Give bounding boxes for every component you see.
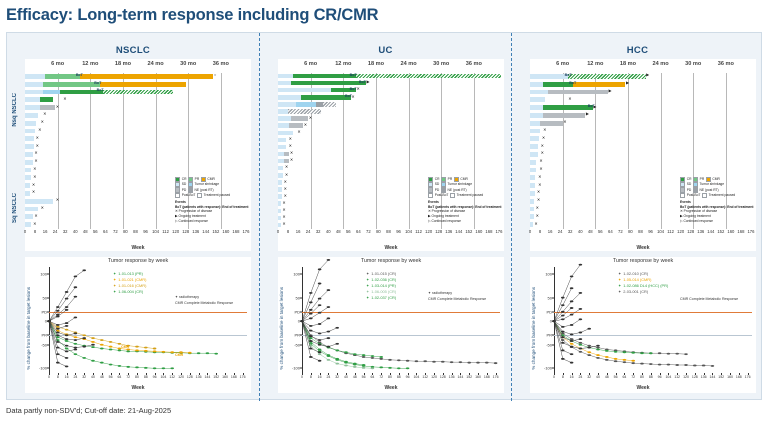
curve-annotation-cmr: CMR	[121, 345, 129, 349]
spider-x-tick-label: 48	[353, 375, 357, 379]
spider-data-point	[561, 297, 565, 299]
spider-x-tick-label: 104	[665, 375, 671, 379]
week-tick-label: 72	[113, 229, 118, 234]
event-marker-x: ✕	[538, 175, 541, 179]
spider-data-point	[318, 353, 322, 355]
spider-x-tick	[425, 373, 426, 375]
spider-x-tick-label: 72	[631, 375, 635, 379]
spider-data-point	[631, 360, 635, 362]
week-tick-label: 128	[182, 229, 189, 234]
spider-data-point	[56, 341, 60, 343]
week-tick-label: 128	[687, 229, 694, 234]
spider-x-tick	[328, 373, 329, 375]
spider-x-tick-label: 120	[683, 375, 689, 379]
spider-data-point	[587, 351, 591, 353]
event-marker-x: ✕	[536, 206, 539, 210]
swimmer-lane: ✕	[25, 152, 251, 157]
spider-data-point	[74, 316, 78, 318]
spider-x-tick-label: 88	[397, 375, 401, 379]
spider-data-point	[579, 292, 583, 294]
spider-x-tick	[443, 373, 444, 375]
swimmer-lane: ✕	[25, 97, 251, 102]
segment-sd	[278, 145, 286, 149]
spider-data-point	[91, 337, 95, 339]
spider-x-tick-label: 96	[153, 375, 157, 379]
segment-pd	[543, 113, 586, 118]
spider-x-tick-label: 112	[422, 375, 428, 379]
event-marker-x: ✕	[289, 137, 292, 141]
segment-sd	[530, 105, 543, 110]
legend-swatch	[197, 193, 202, 198]
swimmer-lane: ✕	[278, 152, 504, 156]
legend-swatch	[680, 193, 685, 198]
swimmer-lane: ✕	[530, 97, 756, 102]
spider-data-point	[561, 342, 565, 344]
spider-data-point	[631, 362, 635, 364]
segment-sd	[278, 102, 296, 106]
event-marker-x: ✕	[36, 144, 39, 148]
week-tick-label: 152	[212, 229, 219, 234]
radiotherapy-note: ✦ radiotherapy	[175, 295, 199, 300]
spider-x-tick	[49, 373, 50, 375]
spider-legend-marker: ✦	[366, 295, 369, 301]
week-tick-label: 32	[63, 229, 68, 234]
segment-sd	[25, 222, 31, 227]
segment-sd	[530, 168, 536, 173]
spider-x-tick-label: 64	[622, 375, 626, 379]
segment-sd	[530, 222, 533, 227]
spider-data-point	[144, 350, 148, 352]
segment-sd	[530, 144, 538, 149]
week-tick-label: 112	[667, 229, 674, 234]
spider-x-tick	[137, 373, 138, 375]
spider-data-point	[579, 332, 583, 334]
spider-data-point	[371, 367, 375, 369]
spider-x-tick-label: 56	[362, 375, 366, 379]
legend-label: PR	[195, 177, 200, 182]
segment-ne-hatched	[323, 102, 336, 106]
event-marker-x: ✕	[541, 151, 544, 155]
month-label: 6 mo	[556, 61, 569, 67]
spider-data-point	[579, 308, 583, 310]
spider-x-tick	[624, 373, 625, 375]
segment-cr	[543, 82, 573, 87]
spider-data-point	[56, 316, 60, 318]
charts-board: NSCLCNsq NSCLCSq NSCLC6 mo12 mo18 mo24 m…	[6, 32, 762, 400]
swimmer-lane: ▶BoT	[530, 82, 756, 87]
spider-title: Tumor response by week	[25, 258, 251, 264]
legend-label: Post-BoT	[182, 193, 196, 198]
event-marker-x: ✕	[34, 151, 37, 155]
spider-series-line	[554, 265, 580, 322]
spider-data-point	[126, 350, 130, 352]
swimmer-lane: ✕	[530, 144, 756, 149]
month-label: 30 mo	[433, 61, 449, 67]
spider-data-point	[561, 358, 565, 360]
segment-sd	[25, 121, 36, 126]
week-tick-label: 160	[475, 229, 482, 234]
segment-cr	[291, 81, 366, 85]
week-tick-label: 40	[73, 229, 78, 234]
event-marker-circle: ○	[214, 73, 216, 77]
spider-x-tick-label: 88	[144, 375, 148, 379]
swimmer-legend: CRPRCMRSDTumor shrinkagePDNE (post RT)Po…	[175, 177, 257, 224]
indication-title-uc: UC	[260, 45, 511, 56]
event-marker-x: ✕	[282, 201, 285, 205]
spider-x-tick	[487, 373, 488, 375]
swimmer-plot-hcc: 6 mo12 mo18 mo24 mo30 mo36 mo▶BoT▶BoT▶✕▶…	[530, 59, 756, 251]
legend-swatch	[702, 193, 707, 198]
spider-y-tick-label: 100	[545, 272, 552, 277]
bot-tag: BoT	[569, 81, 576, 85]
spider-x-tick-label: 120	[431, 375, 437, 379]
week-tick-label: 136	[445, 229, 452, 234]
bot-tag: BoT	[97, 88, 104, 92]
event-marker-x: ✕	[41, 120, 44, 124]
segment-sd	[530, 74, 568, 79]
month-label: 12 mo	[335, 61, 351, 67]
week-tick-label: 64	[103, 229, 108, 234]
spider-data-point	[561, 336, 565, 338]
event-marker-x: ✕	[297, 130, 300, 134]
swimmer-lane: ✕	[530, 129, 756, 134]
spider-data-point	[379, 356, 383, 358]
segment-sd	[278, 216, 281, 220]
week-tick-label: 88	[386, 229, 391, 234]
week-tick-label: 16	[296, 229, 301, 234]
spider-data-point	[371, 357, 375, 359]
spider-x-tick-label: 168	[231, 375, 237, 379]
swimmer-lane: ▶	[530, 90, 756, 95]
swimmer-lane: ✕	[530, 160, 756, 165]
spider-data-point	[702, 365, 706, 367]
event-marker-x: ✕	[282, 208, 285, 212]
slide-root: Efficacy: Long-term response including C…	[0, 0, 768, 432]
spider-x-tick	[216, 373, 217, 375]
spider-y-axis-label: % change from baseline in target lesions	[531, 287, 537, 370]
spider-plot-hcc: Tumor response by week% change from base…	[530, 257, 756, 393]
swimmer-lane	[278, 102, 504, 106]
spider-data-point	[388, 367, 392, 369]
spider-x-tick	[452, 373, 453, 375]
swimmer-x-axis: 0816243240485664728088961041121201281361…	[530, 229, 756, 241]
spider-data-point	[309, 335, 313, 337]
spider-plot-area: 10050PD0PR-50-10008162432404856647280889…	[49, 267, 247, 373]
swimmer-lane: ✕	[530, 152, 756, 157]
spider-data-point	[667, 364, 671, 366]
spider-x-tick	[225, 373, 226, 375]
bot-tag: BoT	[359, 80, 366, 84]
spider-data-point	[65, 350, 69, 352]
spider-x-tick	[337, 373, 338, 375]
legend-label: SD	[435, 182, 440, 187]
spider-data-point	[675, 364, 679, 366]
swimmer-lane: ✕	[278, 131, 504, 135]
spider-data-point	[74, 332, 78, 334]
segment-cmr	[100, 82, 185, 87]
swimmer-lane: ✕	[25, 160, 251, 165]
spider-data-point	[335, 363, 339, 365]
segment-continued-response	[356, 74, 502, 78]
spider-data-point	[65, 306, 69, 308]
segment-sd	[530, 136, 539, 141]
week-tick-label: 16	[43, 229, 48, 234]
spider-data-point	[65, 365, 69, 367]
spider-plot-nsclc: Tumor response by week% change from base…	[25, 257, 251, 393]
swimmer-lane: ✕	[25, 144, 251, 149]
spider-series-line	[554, 321, 686, 354]
spider-data-point	[109, 348, 113, 350]
spider-data-point	[65, 345, 69, 347]
spider-data-point	[91, 341, 95, 343]
segment-sd	[25, 90, 43, 95]
swimmer-lane: ✕	[278, 138, 504, 142]
segment-sd	[25, 152, 33, 157]
week-tick-label: 96	[396, 229, 401, 234]
legend-swatch	[450, 193, 455, 198]
week-tick-label: 80	[123, 229, 128, 234]
spider-x-tick	[311, 373, 312, 375]
spider-x-tick	[302, 373, 303, 375]
spider-data-point	[309, 340, 313, 342]
spider-data-point	[318, 344, 322, 346]
spider-data-point	[300, 320, 304, 322]
segment-sd	[25, 144, 34, 149]
spider-data-point	[327, 346, 331, 348]
spider-y-tick-label: 100	[293, 272, 300, 277]
week-tick-label: 88	[133, 229, 138, 234]
spider-data-point	[335, 349, 339, 351]
swimmer-lane: ✕	[25, 136, 251, 141]
spider-y-axis-label: % change from baseline in target lesions	[279, 287, 285, 370]
spider-data-point	[476, 362, 480, 364]
spider-data-point	[65, 322, 69, 324]
event-marker-x: ✕	[537, 190, 540, 194]
segment-sd	[278, 201, 281, 205]
spider-x-tick	[181, 373, 182, 375]
spider-data-point	[561, 331, 565, 333]
spider-data-point	[605, 359, 609, 361]
spider-x-tick	[721, 373, 722, 375]
spider-data-point	[649, 363, 653, 365]
spider-data-point	[47, 320, 51, 322]
segment-pd	[40, 105, 55, 110]
segment-sd	[25, 129, 35, 134]
spider-data-point	[100, 344, 104, 346]
spider-legend-marker: ✦	[113, 289, 116, 295]
spider-x-tick-label: 144	[457, 375, 463, 379]
event-marker-x: ✕	[32, 183, 35, 187]
spider-data-point	[65, 309, 69, 311]
segment-sd	[278, 223, 281, 227]
spider-data-point	[693, 365, 697, 367]
swimmer-lane: ✕	[278, 116, 504, 120]
spider-x-tick	[84, 373, 85, 375]
spider-data-point	[561, 326, 565, 328]
spider-data-point	[623, 359, 627, 361]
swimmer-lane: ▶BoT	[278, 81, 504, 85]
spider-x-tick-label: 72	[379, 375, 383, 379]
spider-data-point	[605, 356, 609, 358]
spider-x-tick-label: 0	[48, 375, 50, 379]
segment-pd	[540, 121, 563, 126]
swimmer-lane: ✕	[25, 105, 251, 110]
spider-x-tick-label: 128	[187, 375, 193, 379]
spider-data-point	[153, 348, 157, 350]
segment-sd	[25, 82, 43, 87]
month-label: 36 mo	[718, 61, 734, 67]
spider-x-tick-label: 0	[553, 375, 555, 379]
spider-x-tick	[589, 373, 590, 375]
week-tick-label: 32	[568, 229, 573, 234]
spider-data-point	[596, 354, 600, 356]
month-label: 6 mo	[51, 61, 64, 67]
spider-data-point	[353, 366, 357, 368]
spider-data-point	[397, 359, 401, 361]
swimmer-x-axis-label: Week	[530, 245, 756, 251]
segment-pd	[289, 123, 303, 127]
spider-x-tick-label: 64	[370, 375, 374, 379]
event-marker-x: ✕	[290, 151, 293, 155]
legend-label: CMR	[460, 177, 468, 182]
spider-x-tick-label: 72	[126, 375, 130, 379]
spider-data-point	[587, 345, 591, 347]
spider-data-point	[561, 304, 565, 306]
spider-data-point	[135, 349, 139, 351]
event-marker-x: ✕	[568, 97, 571, 101]
spider-x-tick	[190, 373, 191, 375]
spider-data-point	[379, 366, 383, 368]
month-label: 30 mo	[685, 61, 701, 67]
segment-sd	[530, 191, 535, 196]
event-marker-x: ✕	[34, 159, 37, 163]
legend-event-item: ▷ Continued response	[428, 219, 510, 224]
spider-x-tick	[119, 373, 120, 375]
segment-sd	[25, 199, 53, 204]
month-label: 12 mo	[587, 61, 603, 67]
spider-data-point	[570, 275, 574, 277]
spider-series-line	[49, 321, 172, 368]
panel-nsclc: NSCLCNsq NSCLCSq NSCLC6 mo12 mo18 mo24 m…	[7, 33, 259, 401]
segment-sd	[278, 166, 283, 170]
event-marker-x: ✕	[56, 198, 59, 202]
spider-x-tick-label: 168	[484, 375, 490, 379]
legend-event-item: ▷ Continued response	[680, 219, 762, 224]
event-marker-tri: ▶	[626, 81, 629, 85]
event-marker-x: ✕	[284, 187, 287, 191]
swimmer-x-axis-label: Week	[278, 245, 504, 251]
spider-data-point	[56, 353, 60, 355]
segment-sd	[278, 131, 293, 135]
week-tick-label: 48	[588, 229, 593, 234]
spider-data-point	[65, 334, 69, 336]
spider-legend-marker: ✦	[618, 289, 621, 295]
swimmer-lane: ▶BoT	[530, 74, 756, 79]
segment-shrinkage	[296, 102, 316, 106]
swimmer-lane: ✕	[25, 121, 251, 126]
spider-x-tick	[633, 373, 634, 375]
spider-data-point	[318, 339, 322, 341]
spider-data-point	[579, 351, 583, 353]
legend-swatch	[175, 193, 180, 198]
spider-data-point	[56, 324, 60, 326]
legend-label: Tumor shrinkage	[447, 182, 472, 187]
spider-x-tick-label: 16	[570, 375, 574, 379]
spider-data-point	[494, 362, 498, 364]
spider-data-point	[327, 331, 331, 333]
week-tick-label: 120	[172, 229, 179, 234]
spider-x-tick	[616, 373, 617, 375]
spider-x-tick	[563, 373, 564, 375]
group-label-nsq-nsclc: Nsq NSCLC	[12, 93, 18, 127]
spider-x-tick	[390, 373, 391, 375]
spider-x-tick	[320, 373, 321, 375]
week-tick-label: 144	[455, 229, 462, 234]
spider-x-tick	[172, 373, 173, 375]
spider-data-point	[144, 367, 148, 369]
spider-x-tick-label: 48	[605, 375, 609, 379]
spider-data-point	[74, 353, 78, 355]
segment-sd	[530, 183, 535, 188]
spider-data-point	[318, 348, 322, 350]
spider-data-point	[82, 269, 86, 271]
spider-data-point	[309, 317, 313, 319]
swimmer-x-axis: 0816243240485664728088961041121201281361…	[25, 229, 251, 241]
bot-tag: BoT	[588, 104, 595, 108]
panel-hcc: HCC6 mo12 mo18 mo24 mo30 mo36 mo▶BoT▶BoT…	[511, 33, 763, 401]
spider-data-point	[579, 338, 583, 340]
spider-data-point	[684, 353, 688, 355]
spider-x-tick	[102, 373, 103, 375]
spider-x-tick	[399, 373, 400, 375]
spider-data-point	[309, 309, 313, 311]
spider-series-line	[49, 297, 75, 321]
week-tick-label: 48	[83, 229, 88, 234]
spider-data-point	[74, 343, 78, 345]
spider-x-tick	[686, 373, 687, 375]
segment-cmr	[573, 82, 626, 87]
spider-x-tick-label: 8	[310, 375, 312, 379]
spider-series-line	[302, 321, 496, 363]
bot-tag: BoT	[94, 81, 101, 85]
spider-data-point	[214, 353, 218, 355]
week-tick-label: 112	[415, 229, 422, 234]
spider-legend-row: ✦1-02-037 (CR)	[366, 295, 396, 301]
segment-sd	[25, 74, 45, 79]
legend-label: CMR	[712, 177, 720, 182]
spider-x-tick	[199, 373, 200, 375]
spider-x-tick-label: 16	[318, 375, 322, 379]
spider-data-point	[309, 313, 313, 315]
swimmer-lane: ○BoT	[25, 74, 251, 79]
event-marker-x: ✕	[290, 158, 293, 162]
week-tick-label: 160	[727, 229, 734, 234]
spider-data-point	[56, 310, 60, 312]
month-label: 24 mo	[400, 61, 416, 67]
spider-data-point	[65, 329, 69, 331]
week-tick-label: 144	[202, 229, 209, 234]
spider-data-point	[91, 360, 95, 362]
spider-x-axis-label: Week	[530, 385, 756, 391]
spider-data-point	[579, 344, 583, 346]
spider-data-point	[587, 347, 591, 349]
segment-sd	[530, 113, 543, 118]
segment-continued-response	[103, 90, 173, 95]
spider-data-point	[658, 352, 662, 354]
spider-data-point	[552, 320, 556, 322]
spider-data-point	[56, 362, 60, 364]
event-marker-x: ✕	[539, 159, 542, 163]
